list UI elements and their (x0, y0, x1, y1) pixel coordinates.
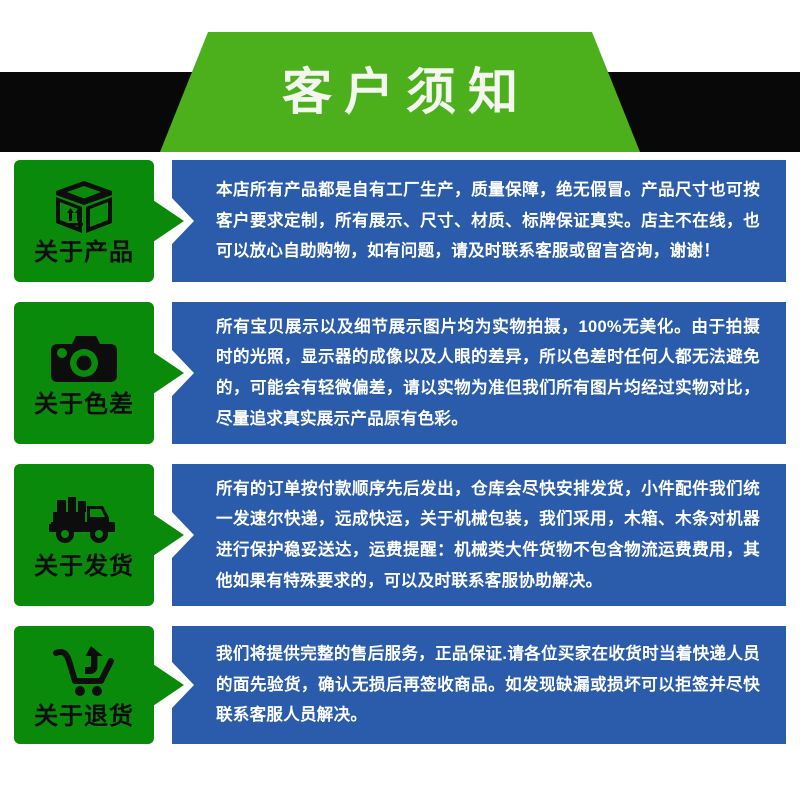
page-header: 客户须知 (0, 0, 800, 152)
camera-icon (47, 330, 121, 388)
icon-label-color: 关于色差 (34, 392, 134, 418)
package-box-icon (47, 178, 121, 236)
notice-row-shipping: 关于发货 所有的订单按付款顺序先后发出，仓库会尽快安排发货，小件配件我们统一发速… (0, 464, 800, 606)
notice-row-return: 关于退货 我们将提供完整的售后服务，正品保证.请各位买家在收货时当着快递人员的面… (0, 626, 800, 744)
notice-row-color: 关于色差 所有宝贝展示以及细节展示图片均为实物拍摄，100%无美化。由于拍摄时的… (0, 302, 800, 444)
icon-card-product[interactable]: 关于产品 (14, 160, 154, 282)
notice-row-product: 关于产品 本店所有产品都是自有工厂生产，质量保障，绝无假冒。产品尺寸也可按客户要… (0, 160, 800, 282)
banner-ribbon: 客户须知 (160, 32, 640, 152)
notice-text-product: 本店所有产品都是自有工厂生产，质量保障，绝无假冒。产品尺寸也可按客户要求定制，所… (172, 161, 786, 281)
icon-label-shipping: 关于发货 (34, 554, 134, 580)
notice-text-return: 我们将提供完整的售后服务，正品保证.请各位买家在收货时当着快递人员的面先验货，确… (172, 625, 786, 745)
icon-label-return: 关于退货 (34, 704, 134, 730)
notice-panel-return: 我们将提供完整的售后服务，正品保证.请各位买家在收货时当着快递人员的面先验货，确… (172, 626, 786, 744)
notice-text-color: 所有宝贝展示以及细节展示图片均为实物拍摄，100%无美化。由于拍摄时的光照，显示… (172, 298, 786, 448)
delivery-truck-icon (47, 492, 121, 550)
notice-panel-shipping: 所有的订单按付款顺序先后发出，仓库会尽快安排发货，小件配件我们统一发速尔快递，远… (172, 464, 786, 606)
customer-notice-page: 客户须知 (0, 0, 800, 800)
notice-panel-color: 所有宝贝展示以及细节展示图片均为实物拍摄，100%无美化。由于拍摄时的光照，显示… (172, 302, 786, 444)
icon-card-return[interactable]: 关于退货 (14, 626, 154, 744)
notice-rows: 关于产品 本店所有产品都是自有工厂生产，质量保障，绝无假冒。产品尺寸也可按客户要… (0, 160, 800, 744)
return-cart-icon (47, 642, 121, 700)
icon-label-product: 关于产品 (34, 240, 134, 266)
icon-card-shipping[interactable]: 关于发货 (14, 464, 154, 606)
page-title: 客户须知 (270, 67, 530, 117)
icon-card-color[interactable]: 关于色差 (14, 302, 154, 444)
notice-text-shipping: 所有的订单按付款顺序先后发出，仓库会尽快安排发货，小件配件我们统一发速尔快递，远… (172, 460, 786, 610)
notice-panel-product: 本店所有产品都是自有工厂生产，质量保障，绝无假冒。产品尺寸也可按客户要求定制，所… (172, 160, 786, 282)
